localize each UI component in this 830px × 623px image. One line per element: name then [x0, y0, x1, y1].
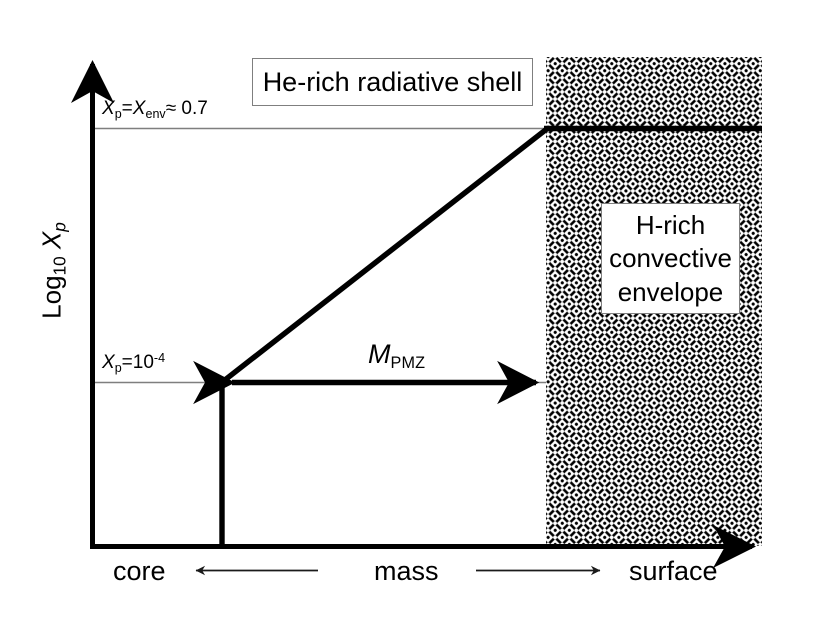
xenv-equals: =	[122, 98, 133, 119]
pmz-subscript: PMZ	[391, 354, 426, 372]
xenv-approx-value: ≈ 0.7	[166, 98, 208, 119]
xenv-var1: X	[102, 98, 115, 119]
xenv-var2-sub: env	[145, 107, 165, 121]
x-axis-label-core: core	[113, 556, 166, 587]
callout-h-rich-line-2: convective	[602, 242, 739, 275]
xfloor-var1: X	[102, 352, 115, 373]
y-axis-title-variable-sub: p	[49, 222, 69, 232]
y-axis-title: Log10 Xp	[37, 181, 68, 361]
callout-he-rich-label: He-rich radiative shell	[263, 67, 523, 97]
callout-h-rich-convective-envelope: H-rich convective envelope	[601, 203, 740, 314]
xfloor-equals: =	[122, 352, 133, 373]
callout-h-rich-line-3: envelope	[602, 276, 739, 309]
y-axis-title-variable: X	[37, 232, 67, 249]
x-axis-label-mass: mass	[374, 556, 439, 587]
callout-h-rich-line-1: H-rich	[602, 209, 739, 242]
callout-he-rich-radiative-shell: He-rich radiative shell	[252, 58, 533, 106]
figure-canvas: Log10 Xp Xp=Xenv≈ 0.7 Xp=10-4 He-rich ra…	[0, 0, 830, 623]
xenv-var1-sub: p	[115, 107, 122, 121]
pmz-mass-label: MPMZ	[368, 339, 425, 370]
x-axis-label-surface: surface	[629, 556, 718, 587]
xfloor-base: 10	[133, 352, 154, 373]
tick-label-x-env: Xp=Xenv≈ 0.7	[102, 98, 208, 120]
pmz-symbol: M	[368, 339, 391, 369]
xenv-var2: X	[133, 98, 146, 119]
xfloor-exponent: -4	[154, 351, 165, 365]
tick-label-x-floor: Xp=10-4	[102, 352, 165, 374]
xfloor-var1-sub: p	[115, 361, 122, 375]
y-axis-title-sub: 10	[49, 256, 69, 275]
y-axis-title-prefix: Log	[37, 275, 67, 318]
